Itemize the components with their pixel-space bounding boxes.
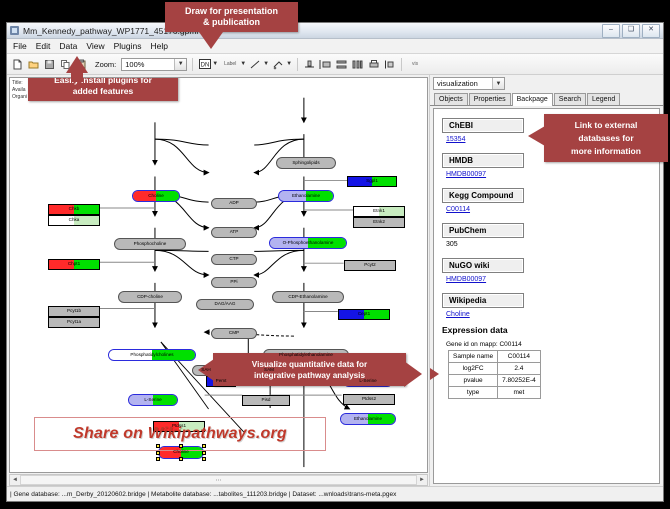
expression-table: Sample nameC00114log2FC2.4pvalue7.80252E… — [448, 350, 541, 399]
backpage-section-title: NuGO wiki — [442, 258, 524, 273]
callout-plugins: Easily install plugins for added feature… — [28, 77, 178, 101]
callout-links-arrow-stem — [543, 130, 549, 142]
visualization-toolbar-icon[interactable]: vis — [407, 58, 423, 71]
node-label: Ethanolamine — [292, 194, 320, 199]
table-cell-key: Sample name — [449, 351, 498, 363]
selection-handle[interactable] — [156, 457, 160, 461]
gene-node[interactable]: Ptdss2 — [343, 394, 395, 405]
table-cell-value: 2.4 — [498, 363, 541, 375]
callout-visualize: Visualize quantitative data for integrat… — [213, 353, 406, 386]
metabolite-node[interactable]: ATP — [211, 227, 257, 238]
node-label: Choline — [173, 450, 189, 455]
backpage-db-value: 305 — [446, 241, 659, 248]
align-left-icon[interactable] — [319, 58, 332, 71]
menu-item-view[interactable]: View — [86, 41, 104, 51]
metabolite-node[interactable]: O-Phosphoethanolamine — [269, 237, 347, 249]
line-dropdown[interactable]: ▼ — [249, 58, 269, 71]
line-icon[interactable] — [249, 58, 262, 71]
chevron-down-icon[interactable]: ▼ — [212, 61, 218, 67]
metabolite-node[interactable]: ADP — [211, 198, 257, 209]
node-label: Phosphatidylethanolamine — [279, 353, 333, 358]
node-label: Chpt1 — [68, 262, 80, 267]
share-banner: Share on Wikipathways.org — [34, 417, 326, 451]
callout-draw-line2: & publication — [203, 17, 260, 28]
callout-links-line3: more information — [571, 145, 641, 158]
callout-plugins-line1: Easily install plugins for — [54, 77, 152, 86]
node-label: L-Serine — [144, 398, 161, 403]
chevron-down-icon[interactable]: ▼ — [174, 59, 186, 70]
node-label: CDP-choline — [137, 295, 163, 300]
tab-search[interactable]: Search — [554, 93, 586, 105]
toolbar: Zoom: 100% ▼ DN ▼ Label ▼ ▼ — [7, 54, 663, 75]
distribute-icon[interactable] — [335, 58, 348, 71]
table-row: typemet — [449, 387, 541, 399]
canvas-pane: Title: Availa Organi — [7, 75, 430, 486]
node-label: O-Phosphoethanolamine — [283, 241, 334, 246]
menu-item-help[interactable]: Help — [151, 41, 168, 51]
table-cell-key: type — [449, 387, 498, 399]
menubar: File Edit Data View Plugins Help — [7, 39, 663, 54]
metabolite-node[interactable]: Ethanolamine — [278, 190, 334, 202]
menu-item-data[interactable]: Data — [59, 41, 77, 51]
selection-handle[interactable] — [156, 451, 160, 455]
node-label: Etnk1 — [373, 209, 385, 214]
callout-draw-arrow — [199, 32, 223, 49]
backpage-section-title: HMDB — [442, 153, 524, 168]
node-label: Phosphatidylcholines — [130, 353, 173, 358]
status-bar: | Gene database: ...m_Derby_20120602.bri… — [7, 486, 663, 501]
gene-node[interactable]: Cept1 — [338, 309, 390, 320]
backpage-content: ChEBI15354HMDBHMDB00097Kegg CompoundC001… — [433, 108, 660, 484]
chevron-down-icon[interactable]: ▼ — [286, 61, 292, 67]
chevron-down-icon[interactable]: ▼ — [240, 61, 246, 67]
save-icon[interactable] — [43, 58, 56, 71]
expression-data-heading: Expression data — [442, 325, 659, 335]
screenshot-root: Mm_Kennedy_pathway_WP1771_45176.gpml – ❑… — [0, 0, 670, 509]
callout-plugins-line2: added features — [73, 86, 133, 97]
canvas-hscrollbar[interactable]: ◄ ⋯ ► — [9, 474, 428, 486]
node-label: Sgpl1 — [366, 179, 378, 184]
table-cell-value: met — [498, 387, 541, 399]
node-label: SAH — [201, 368, 210, 373]
metabolite-node[interactable]: PPi — [211, 277, 257, 288]
callout-expression-pointer — [430, 368, 439, 380]
table-cell-key: pvalue — [449, 375, 498, 387]
menu-item-edit[interactable]: Edit — [36, 41, 51, 51]
node-label: Chka — [69, 218, 80, 223]
pathway-canvas[interactable]: Title: Availa Organi — [9, 77, 428, 473]
callout-draw: Draw for presentation & publication — [165, 2, 298, 32]
node-label: CMP — [229, 331, 239, 336]
gene-node[interactable]: Sgpl1 — [347, 176, 397, 187]
table-cell-value: 7.80252E-4 — [498, 375, 541, 387]
metabolite-node[interactable]: CDP-choline — [118, 291, 182, 303]
metabolite-node[interactable]: CMP — [211, 328, 257, 339]
metabolite-node[interactable]: Phosphocholine — [114, 238, 186, 250]
node-label: L-Serine — [359, 379, 376, 384]
gene-node[interactable]: Chkb — [48, 204, 100, 215]
gene-node[interactable]: Pcyt1a — [48, 317, 100, 328]
gene-node[interactable]: Pcyt2 — [344, 260, 396, 271]
node-label: ATP — [230, 230, 239, 235]
chevron-down-icon[interactable]: ▼ — [492, 78, 504, 89]
selection-handle[interactable] — [202, 451, 206, 455]
node-label: CDP-Ethanolamine — [288, 295, 327, 300]
label-icon[interactable]: Label — [221, 58, 239, 71]
backpage-db-link[interactable]: HMDB00097 — [446, 171, 659, 178]
backpage-section-title: ChEBI — [442, 118, 524, 133]
visualization-value: visualization — [437, 79, 478, 88]
visualization-combo[interactable]: visualization ▼ — [433, 77, 505, 90]
shape-dropdown[interactable]: ▼ — [272, 58, 292, 71]
zoom-value: 100% — [125, 60, 144, 69]
equal-width-icon[interactable] — [351, 58, 364, 71]
node-label: Pemt — [216, 379, 227, 384]
gene-node[interactable]: Pcyt1b — [48, 306, 100, 317]
scroll-right-icon[interactable]: ► — [417, 477, 427, 483]
node-label: PPi — [230, 280, 237, 285]
gene-node[interactable]: Chpt1 — [48, 259, 100, 270]
zoom-combo[interactable]: 100% ▼ — [121, 58, 187, 71]
metabolite-node[interactable]: Choline — [132, 190, 180, 202]
table-cell-key: log2FC — [449, 363, 498, 375]
tab-properties[interactable]: Properties — [469, 93, 511, 105]
table-row: Sample nameC00114 — [449, 351, 541, 363]
node-label: Pcyt1a — [67, 320, 81, 325]
metabolite-node[interactable]: CTP — [211, 254, 257, 265]
toolbar-separator — [401, 58, 402, 71]
table-row: pvalue7.80252E-4 — [449, 375, 541, 387]
selection-handle[interactable] — [202, 457, 206, 461]
node-label: Pisd — [262, 398, 271, 403]
node-label: Chkb — [69, 207, 80, 212]
callout-visualize-arrow-right — [404, 361, 422, 387]
tab-legend[interactable]: Legend — [587, 93, 620, 105]
node-label: ADP — [229, 201, 238, 206]
gene-node[interactable]: Pisd — [242, 395, 290, 406]
scroll-thumb[interactable]: ⋯ — [20, 475, 417, 485]
node-label: Sphingolipids — [292, 161, 319, 166]
status-bar-text: | Gene database: ...m_Derby_20120602.bri… — [10, 491, 396, 498]
node-label: Cept1 — [358, 312, 370, 317]
metabolite-node[interactable]: Ethanolamine — [340, 413, 396, 425]
side-panel-tabs: Objects Properties Backpage Search Legen… — [430, 92, 663, 106]
window-titlebar: Mm_Kennedy_pathway_WP1771_45176.gpml – ❑… — [7, 23, 663, 39]
node-label: Ptdss2 — [362, 397, 376, 402]
backpage-db-link[interactable]: Choline — [446, 311, 659, 318]
menu-item-file[interactable]: File — [13, 41, 27, 51]
node-label: Ptdss1 — [172, 424, 186, 429]
gene-node[interactable]: Etnk2 — [353, 217, 405, 228]
node-label: Ethanolamine — [354, 417, 382, 422]
callout-draw-line1: Draw for presentation — [185, 6, 278, 17]
app-icon — [10, 26, 19, 35]
table-cell-value: C00114 — [498, 351, 541, 363]
node-label: Pcyt1b — [67, 309, 81, 314]
callout-links-line2: databases for — [578, 132, 633, 145]
node-label: CTP — [229, 257, 238, 262]
minimize-button[interactable]: – — [602, 24, 620, 38]
window-controls: – ❑ ✕ — [602, 24, 660, 38]
arrow-shape-icon[interactable] — [272, 58, 285, 71]
new-document-icon[interactable] — [11, 58, 24, 71]
backpage-db-link[interactable]: HMDB00097 — [446, 276, 659, 283]
selection-handle[interactable] — [179, 457, 183, 461]
node-label: DAG/AAG — [215, 302, 236, 307]
print-icon[interactable] — [367, 58, 380, 71]
backpage-section-title: Wikipedia — [442, 293, 524, 308]
toolbar-separator — [192, 58, 193, 71]
metabolite-node[interactable]: CDP-Ethanolamine — [272, 291, 344, 303]
label-dropdown[interactable]: Label ▼ — [221, 58, 246, 71]
menu-item-plugins[interactable]: Plugins — [114, 41, 142, 51]
callout-links-line1: Link to external — [575, 119, 638, 132]
node-label: Etnk2 — [373, 220, 385, 225]
gene-id-label: Gene id on mapp: C00114 — [446, 341, 659, 348]
scroll-left-icon[interactable]: ◄ — [10, 477, 20, 483]
table-row: log2FC2.4 — [449, 363, 541, 375]
order-icon[interactable] — [383, 58, 396, 71]
gene-node[interactable]: Chka — [48, 215, 100, 226]
metabolite-node[interactable]: Phosphatidylcholines — [108, 349, 196, 361]
gene-node[interactable]: Etnk1 — [353, 206, 405, 217]
maximize-button[interactable]: ❑ — [622, 24, 640, 38]
toolbar-separator — [297, 58, 298, 71]
node-label: Phosphocholine — [134, 242, 167, 247]
metabolite-node[interactable]: L-Serine — [128, 394, 178, 406]
backpage-section-title: Kegg Compound — [442, 188, 524, 203]
chevron-down-icon[interactable]: ▼ — [263, 61, 269, 67]
open-folder-icon[interactable] — [27, 58, 40, 71]
datanode-dropdown[interactable]: DN ▼ — [198, 58, 218, 71]
backpage-section-title: PubChem — [442, 223, 524, 238]
metabolite-node[interactable]: DAG/AAG — [196, 299, 254, 310]
node-label: SAM — [264, 368, 274, 373]
tab-objects[interactable]: Objects — [434, 93, 468, 105]
metabolite-node[interactable]: Sphingolipids — [276, 157, 336, 169]
backpage-db-link[interactable]: C00114 — [446, 206, 659, 213]
node-label: Pcyt2 — [364, 263, 376, 268]
datanode-icon[interactable]: DN — [198, 58, 211, 71]
node-label: Choline — [148, 194, 164, 199]
callout-links: Link to external databases for more info… — [544, 114, 668, 162]
callout-plugins-arrow-stem — [71, 70, 83, 82]
svg-text:DN: DN — [200, 63, 209, 69]
close-button[interactable]: ✕ — [642, 24, 660, 38]
zoom-label: Zoom: — [95, 60, 116, 69]
tab-backpage[interactable]: Backpage — [512, 93, 553, 106]
align-icon[interactable] — [303, 58, 316, 71]
pathvisio-window: Mm_Kennedy_pathway_WP1771_45176.gpml – ❑… — [6, 22, 664, 502]
